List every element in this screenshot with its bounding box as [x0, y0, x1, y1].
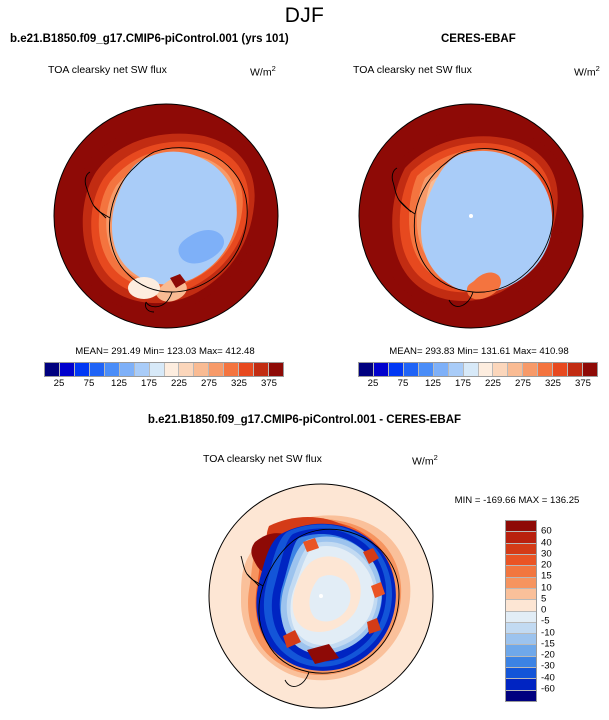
- colorbar-tick-neg40: -40: [541, 672, 555, 683]
- panel-variable-label-model: TOA clearsky net SW flux: [48, 64, 167, 76]
- colorbar-cell-9: [493, 363, 508, 376]
- units-exponent: 2: [434, 453, 438, 462]
- polar-map-model-svg: [52, 102, 280, 330]
- colorbar-cell-7: [150, 363, 165, 376]
- colorbar-tick-neg10: -10: [541, 627, 555, 638]
- colorbar-model[interactable]: 2575125175225275325375: [44, 362, 284, 391]
- colorbar-tick-375: 375: [575, 378, 591, 389]
- panel-stats-obs: MEAN= 293.83 Min= 131.61 Max= 410.98: [358, 346, 600, 357]
- colorbar-tick-225: 225: [171, 378, 187, 389]
- panel-units-difference: W/m2: [412, 453, 438, 468]
- colorbar-cell-3: [404, 363, 419, 376]
- polar-map-obs-svg: [357, 102, 585, 330]
- colorbar-cell-6: [135, 363, 150, 376]
- colorbar-difference-cells[interactable]: [505, 520, 537, 702]
- colorbar-cell-12: [538, 363, 553, 376]
- figure-season-title: DJF: [0, 4, 609, 28]
- colorbar-tick-60: 60: [541, 526, 552, 537]
- colorbar-tick-neg20: -20: [541, 650, 555, 661]
- colorbar-tick-15: 15: [541, 571, 552, 582]
- colorbar-cell-0: [45, 363, 60, 376]
- colorbar-cell-0: [359, 363, 374, 376]
- panel-units-obs: W/m2: [574, 64, 600, 79]
- panel-stats-difference: MIN = -169.66 MAX = 136.25: [432, 495, 602, 506]
- panel-title-difference: b.e21.B1850.f09_g17.CMIP6-piControl.001 …: [0, 414, 609, 426]
- colorbar-cell-5: [506, 578, 536, 589]
- colorbar-cell-10: [194, 363, 209, 376]
- colorbar-tick-40: 40: [541, 537, 552, 548]
- colorbar-cell-8: [506, 612, 536, 623]
- colorbar-cell-14: [568, 363, 583, 376]
- colorbar-tick-25: 25: [54, 378, 65, 389]
- colorbar-cell-7: [464, 363, 479, 376]
- colorbar-tick-375: 375: [261, 378, 277, 389]
- colorbar-cell-9: [506, 623, 536, 634]
- colorbar-cell-2: [389, 363, 404, 376]
- units-exponent: 2: [272, 64, 276, 73]
- panel-units-model: W/m2: [250, 64, 276, 79]
- units-text: W/m: [250, 67, 272, 79]
- map-field-model: [52, 102, 280, 330]
- colorbar-tick-225: 225: [485, 378, 501, 389]
- colorbar-cell-4: [419, 363, 434, 376]
- colorbar-tick-325: 325: [231, 378, 247, 389]
- colorbar-cell-11: [209, 363, 224, 376]
- colorbar-cell-13: [239, 363, 254, 376]
- colorbar-cell-7: [506, 600, 536, 611]
- colorbar-cell-8: [165, 363, 180, 376]
- colorbar-cell-2: [75, 363, 90, 376]
- colorbar-tick-0: 0: [541, 605, 546, 616]
- colorbar-cell-1: [374, 363, 389, 376]
- colorbar-tick-275: 275: [515, 378, 531, 389]
- colorbar-cell-4: [506, 566, 536, 577]
- colorbar-cell-11: [523, 363, 538, 376]
- colorbar-cell-12: [506, 657, 536, 668]
- colorbar-cell-10: [506, 634, 536, 645]
- colorbar-cell-3: [90, 363, 105, 376]
- colorbar-obs-cells[interactable]: [358, 362, 598, 377]
- colorbar-tick-75: 75: [398, 378, 409, 389]
- colorbar-tick-5: 5: [541, 593, 546, 604]
- colorbar-cell-3: [506, 555, 536, 566]
- colorbar-cell-9: [179, 363, 194, 376]
- colorbar-difference-ticks: 60403020151050-5-10-15-20-30-40-60: [541, 520, 581, 700]
- colorbar-tick-175: 175: [141, 378, 157, 389]
- colorbar-cell-14: [254, 363, 269, 376]
- polar-map-difference-svg: [207, 482, 435, 710]
- colorbar-cell-6: [449, 363, 464, 376]
- colorbar-cell-15: [583, 363, 597, 376]
- panel-variable-label-obs: TOA clearsky net SW flux: [353, 64, 472, 76]
- colorbar-cell-15: [269, 363, 283, 376]
- colorbar-obs-ticks: 2575125175225275325375: [358, 377, 598, 391]
- polar-map-model: [52, 102, 280, 330]
- colorbar-cell-15: [506, 691, 536, 701]
- colorbar-tick-neg30: -30: [541, 661, 555, 672]
- polar-map-obs: [357, 102, 585, 330]
- colorbar-tick-neg15: -15: [541, 638, 555, 649]
- colorbar-tick-25: 25: [368, 378, 379, 389]
- colorbar-tick-10: 10: [541, 582, 552, 593]
- colorbar-obs[interactable]: 2575125175225275325375: [358, 362, 598, 391]
- colorbar-tick-175: 175: [455, 378, 471, 389]
- colorbar-cell-2: [506, 544, 536, 555]
- colorbar-tick-75: 75: [84, 378, 95, 389]
- colorbar-cell-13: [553, 363, 568, 376]
- colorbar-tick-20: 20: [541, 560, 552, 571]
- colorbar-cell-5: [120, 363, 135, 376]
- panel-stats-model: MEAN= 291.49 Min= 123.03 Max= 412.48: [44, 346, 286, 357]
- colorbar-cell-14: [506, 679, 536, 690]
- colorbar-tick-neg60: -60: [541, 683, 555, 694]
- units-text: W/m: [574, 67, 596, 79]
- colorbar-cell-10: [508, 363, 523, 376]
- colorbar-cell-0: [506, 521, 536, 532]
- colorbar-tick-30: 30: [541, 548, 552, 559]
- colorbar-tick-275: 275: [201, 378, 217, 389]
- colorbar-tick-neg5: -5: [541, 616, 550, 627]
- colorbar-cell-13: [506, 668, 536, 679]
- colorbar-tick-325: 325: [545, 378, 561, 389]
- colorbar-cell-1: [60, 363, 75, 376]
- colorbar-tick-125: 125: [111, 378, 127, 389]
- panel-variable-label-difference: TOA clearsky net SW flux: [203, 453, 322, 465]
- colorbar-cell-6: [506, 589, 536, 600]
- map-field-difference: [207, 482, 435, 710]
- colorbar-cell-5: [434, 363, 449, 376]
- panel-title-obs: CERES-EBAF: [441, 33, 516, 45]
- colorbar-difference[interactable]: [505, 520, 537, 702]
- colorbar-cell-8: [479, 363, 494, 376]
- colorbar-cell-11: [506, 645, 536, 656]
- colorbar-cell-12: [224, 363, 239, 376]
- polar-map-difference: [207, 482, 435, 710]
- colorbar-cell-4: [105, 363, 120, 376]
- panel-title-model: b.e21.B1850.f09_g17.CMIP6-piControl.001 …: [10, 33, 289, 45]
- colorbar-model-cells[interactable]: [44, 362, 284, 377]
- colorbar-model-ticks: 2575125175225275325375: [44, 377, 284, 391]
- colorbar-tick-125: 125: [425, 378, 441, 389]
- units-exponent: 2: [596, 64, 600, 73]
- units-text: W/m: [412, 456, 434, 468]
- colorbar-cell-1: [506, 532, 536, 543]
